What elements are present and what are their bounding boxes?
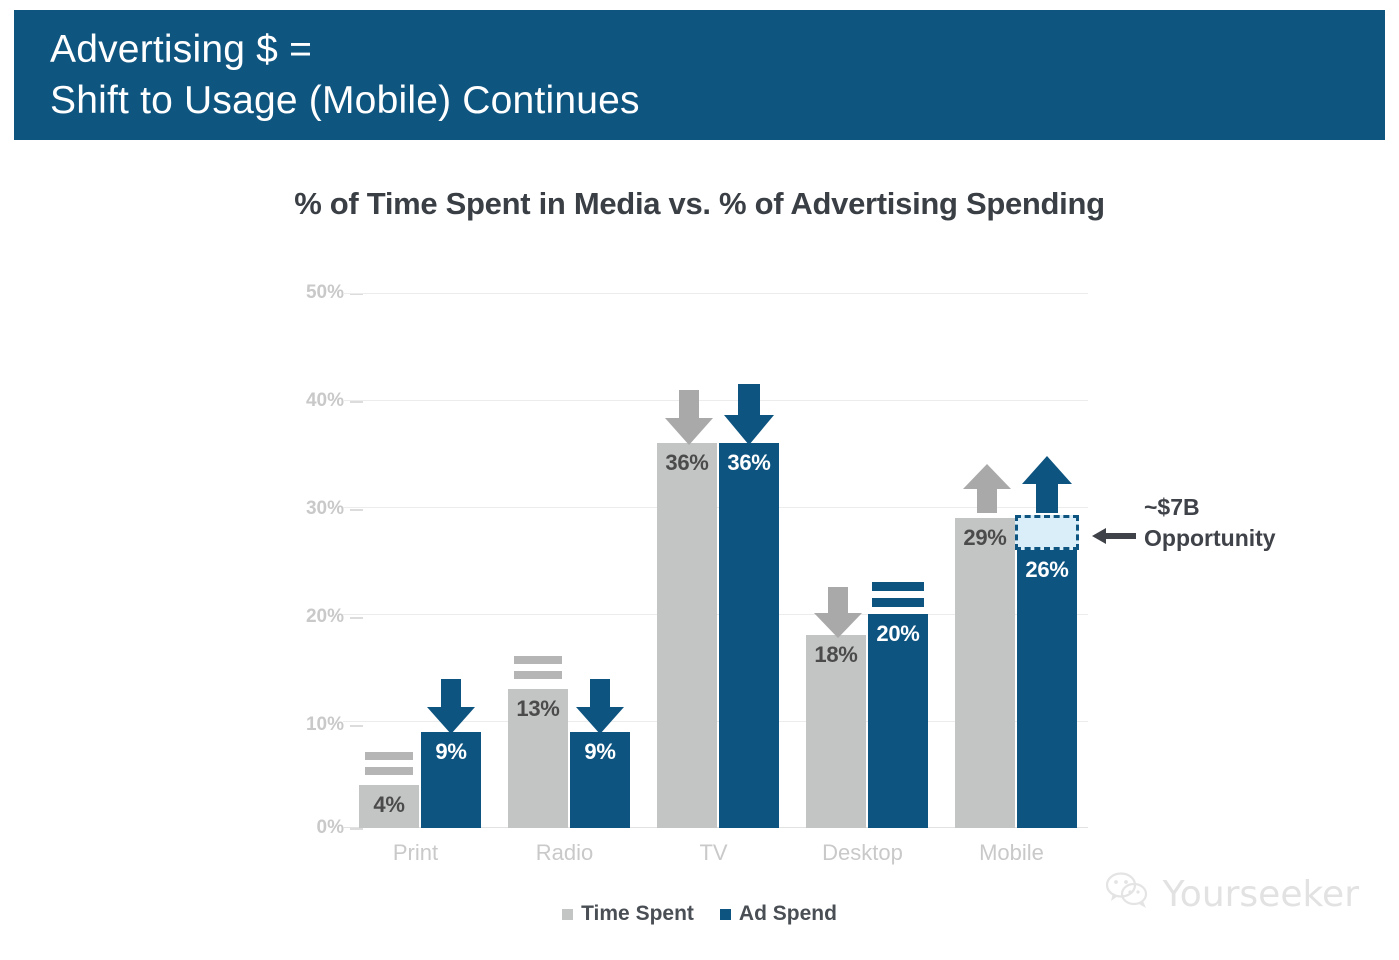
legend-item-ad-spend[interactable]: Ad Spend: [720, 902, 837, 926]
x-label-tv: TV: [641, 840, 786, 866]
bar-label-print-time-spent: 4%: [359, 792, 419, 818]
y-tick-label: 20%: [306, 606, 344, 627]
bar-group-desktop: 18% 20%: [790, 293, 935, 828]
bar-tv-ad-spend[interactable]: 36%: [719, 443, 779, 828]
left-arrow-icon: [1092, 523, 1136, 554]
opportunity-annotation: ~$7B Opportunity: [1092, 492, 1322, 554]
legend-item-time-spent[interactable]: Time Spent: [562, 902, 694, 926]
y-tick-20: 20%: [284, 606, 344, 628]
watermark: Yourseeker: [1105, 871, 1359, 918]
y-tick-label: 10%: [306, 714, 344, 735]
bar-group-radio: 13% 9%: [492, 293, 637, 828]
trend-equals-icon: [872, 580, 924, 608]
chart-title: % of Time Spent in Media vs. % of Advert…: [0, 186, 1399, 222]
opportunity-amount: ~$7B: [1092, 492, 1322, 523]
bar-mobile-time-spent[interactable]: 29%: [955, 518, 1015, 828]
legend-swatch-icon: [562, 909, 573, 920]
trend-down-arrow-icon: [663, 390, 715, 446]
bar-desktop-time-spent[interactable]: 18%: [806, 635, 866, 828]
bar-radio-ad-spend[interactable]: 9%: [570, 732, 630, 828]
bar-label-tv-time-spent: 36%: [657, 450, 717, 476]
bar-print-ad-spend[interactable]: 9%: [421, 732, 481, 828]
header-title-line-2: Shift to Usage (Mobile) Continues: [50, 75, 1385, 126]
y-tick-label: 0%: [317, 817, 344, 838]
trend-down-arrow-icon: [425, 679, 477, 735]
bar-label-radio-time-spent: 13%: [508, 696, 568, 722]
bar-group-mobile: 29% 26%: [939, 293, 1084, 828]
trend-equals-icon: [365, 750, 413, 778]
bar-mobile-ad-spend[interactable]: 26%: [1017, 550, 1077, 828]
bar-label-mobile-time-spent: 29%: [955, 525, 1015, 551]
y-tick-label: 50%: [306, 282, 344, 303]
bar-label-tv-ad-spend: 36%: [719, 450, 779, 476]
y-tick-30: 30%: [284, 498, 344, 520]
plot-area: 4% 9% 13% 9% 36% 36%: [343, 293, 1088, 828]
bar-group-print: 4% 9%: [343, 293, 488, 828]
bar-group-tv: 36% 36%: [641, 293, 786, 828]
x-label-radio: Radio: [492, 840, 637, 866]
legend-swatch-icon: [720, 909, 731, 920]
y-tick-label: 40%: [306, 390, 344, 411]
x-label-desktop: Desktop: [790, 840, 935, 866]
bar-label-radio-ad-spend: 9%: [570, 739, 630, 765]
trend-up-arrow-icon: [1021, 456, 1073, 514]
bar-label-mobile-ad-spend: 26%: [1017, 557, 1077, 583]
opportunity-label: Opportunity: [1144, 523, 1276, 554]
bar-radio-time-spent[interactable]: 13%: [508, 689, 568, 828]
trend-down-arrow-icon: [574, 679, 626, 735]
y-tick-label: 30%: [306, 498, 344, 519]
wechat-icon: [1105, 871, 1151, 918]
bar-label-desktop-ad-spend: 20%: [868, 621, 928, 647]
legend-label-ad-spend: Ad Spend: [739, 902, 837, 926]
x-label-mobile: Mobile: [939, 840, 1084, 866]
y-tick-0: 0%: [284, 817, 344, 839]
header-title-line-1: Advertising $ =: [50, 24, 1385, 75]
bar-print-time-spent[interactable]: 4%: [359, 785, 419, 828]
header-banner: Advertising $ = Shift to Usage (Mobile) …: [14, 10, 1385, 140]
x-label-print: Print: [343, 840, 488, 866]
bar-label-print-ad-spend: 9%: [421, 739, 481, 765]
opportunity-box[interactable]: [1015, 515, 1079, 550]
bar-tv-time-spent[interactable]: 36%: [657, 443, 717, 828]
trend-down-arrow-icon: [723, 384, 775, 446]
trend-down-arrow-icon: [812, 587, 864, 639]
trend-up-arrow-icon: [961, 464, 1013, 514]
watermark-text: Yourseeker: [1163, 874, 1359, 915]
y-tick-10: 10%: [284, 714, 344, 736]
bar-desktop-ad-spend[interactable]: 20%: [868, 614, 928, 828]
y-tick-40: 40%: [284, 390, 344, 412]
bar-label-desktop-time-spent: 18%: [806, 642, 866, 668]
y-tick-dash-icon: [350, 828, 363, 830]
legend-label-time-spent: Time Spent: [581, 902, 694, 926]
y-tick-50: 50%: [284, 282, 344, 304]
trend-equals-icon: [514, 654, 562, 682]
